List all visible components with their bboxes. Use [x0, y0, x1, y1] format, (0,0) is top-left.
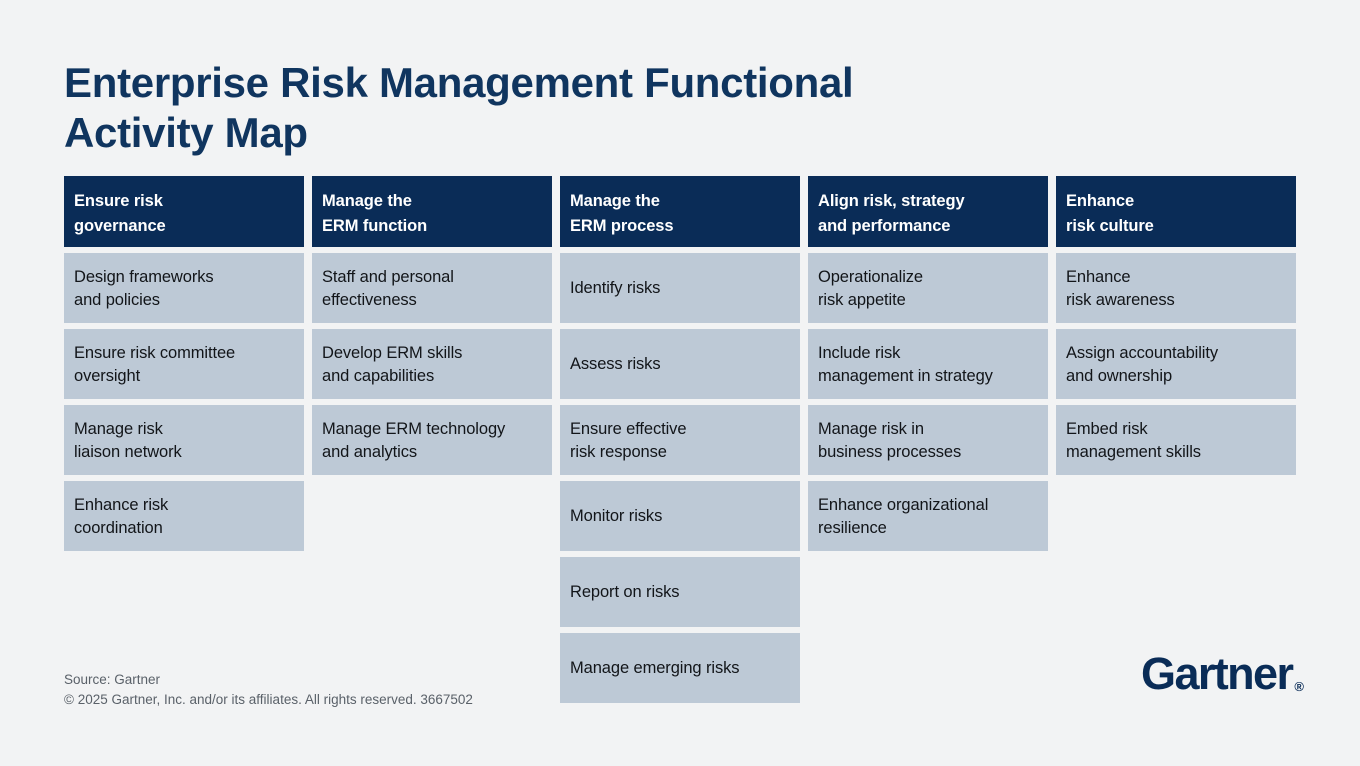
column-header-line-2: ERM process: [570, 214, 788, 239]
column-enhance-risk-culture: Enhance risk culture Enhance risk awaren…: [1056, 176, 1296, 475]
source-label: Source: Gartner: [64, 670, 473, 690]
activity-line-2: risk response: [570, 441, 790, 464]
column-header-ensure-risk-governance: Ensure risk governance: [64, 176, 304, 247]
infographic-canvas: Enterprise Risk Management Functional Ac…: [0, 0, 1360, 766]
activity-line-2: liaison network: [74, 441, 294, 464]
registered-trademark-icon: ®: [1294, 680, 1304, 693]
activity-line-2: oversight: [74, 365, 294, 388]
activity-line-2: and capabilities: [322, 365, 542, 388]
column-header-line-1: Align risk, strategy: [818, 189, 1036, 214]
column-manage-the-erm-process: Manage the ERM process Identify risks As…: [560, 176, 800, 703]
activity-line-2: and analytics: [322, 441, 542, 464]
activity-cell[interactable]: Staff and personal effectiveness: [312, 253, 552, 323]
activity-cell[interactable]: Manage risk in business processes: [808, 405, 1048, 475]
activity-line-1: Assign accountability: [1066, 342, 1286, 365]
column-header-manage-the-erm-process: Manage the ERM process: [560, 176, 800, 247]
page-title-line-2: Activity Map: [64, 108, 1064, 158]
column-manage-the-erm-function: Manage the ERM function Staff and person…: [312, 176, 552, 475]
activity-line-1: Staff and personal: [322, 266, 542, 289]
column-header-line-1: Manage the: [322, 189, 540, 214]
activity-line-2: business processes: [818, 441, 1038, 464]
column-ensure-risk-governance: Ensure risk governance Design frameworks…: [64, 176, 304, 551]
activity-line-2: risk awareness: [1066, 289, 1286, 312]
activity-cell[interactable]: Develop ERM skills and capabilities: [312, 329, 552, 399]
activity-cell[interactable]: Identify risks: [560, 253, 800, 323]
gartner-wordmark: Gartner: [1141, 651, 1292, 696]
page-title: Enterprise Risk Management Functional Ac…: [64, 58, 1064, 158]
activity-line-1: Assess risks: [570, 353, 660, 376]
activity-cell[interactable]: Enhance risk coordination: [64, 481, 304, 551]
activity-line-1: Enhance organizational: [818, 494, 1038, 517]
activity-cell[interactable]: Enhance risk awareness: [1056, 253, 1296, 323]
activity-line-1: Embed risk: [1066, 418, 1286, 441]
activity-line-2: coordination: [74, 517, 294, 540]
activity-line-1: Include risk: [818, 342, 1038, 365]
activity-line-1: Develop ERM skills: [322, 342, 542, 365]
column-header-line-1: Manage the: [570, 189, 788, 214]
activity-line-1: Manage risk in: [818, 418, 1038, 441]
activity-cell[interactable]: Assess risks: [560, 329, 800, 399]
activity-line-2: and policies: [74, 289, 294, 312]
activity-cell[interactable]: Include risk management in strategy: [808, 329, 1048, 399]
column-header-enhance-risk-culture: Enhance risk culture: [1056, 176, 1296, 247]
activity-cell[interactable]: Report on risks: [560, 557, 800, 627]
activity-line-1: Manage emerging risks: [570, 657, 739, 680]
activity-line-1: Report on risks: [570, 581, 679, 604]
activity-cell[interactable]: Manage emerging risks: [560, 633, 800, 703]
column-header-align-risk-strategy-and-performance: Align risk, strategy and performance: [808, 176, 1048, 247]
activity-line-1: Ensure effective: [570, 418, 790, 441]
page-title-line-1: Enterprise Risk Management Functional: [64, 58, 1064, 108]
activity-map-grid: Ensure risk governance Design frameworks…: [64, 176, 1296, 703]
column-header-line-1: Enhance: [1066, 189, 1284, 214]
activity-cell[interactable]: Ensure effective risk response: [560, 405, 800, 475]
activity-line-1: Design frameworks: [74, 266, 294, 289]
activity-line-1: Identify risks: [570, 277, 660, 300]
activity-line-2: and ownership: [1066, 365, 1286, 388]
column-align-risk-strategy-and-performance: Align risk, strategy and performance Ope…: [808, 176, 1048, 551]
activity-cell[interactable]: Monitor risks: [560, 481, 800, 551]
activity-line-2: management in strategy: [818, 365, 1038, 388]
activity-cell[interactable]: Ensure risk committee oversight: [64, 329, 304, 399]
column-header-line-1: Ensure risk: [74, 189, 292, 214]
footer-attribution: Source: Gartner © 2025 Gartner, Inc. and…: [64, 670, 473, 710]
activity-cell[interactable]: Manage ERM technology and analytics: [312, 405, 552, 475]
activity-line-2: risk appetite: [818, 289, 1038, 312]
activity-line-1: Ensure risk committee: [74, 342, 294, 365]
activity-line-1: Enhance: [1066, 266, 1286, 289]
activity-cell[interactable]: Embed risk management skills: [1056, 405, 1296, 475]
activity-line-1: Operationalize: [818, 266, 1038, 289]
activity-line-1: Enhance risk: [74, 494, 294, 517]
activity-cell[interactable]: Operationalize risk appetite: [808, 253, 1048, 323]
copyright-label: © 2025 Gartner, Inc. and/or its affiliat…: [64, 690, 473, 710]
activity-cell[interactable]: Manage risk liaison network: [64, 405, 304, 475]
activity-line-1: Manage ERM technology: [322, 418, 542, 441]
activity-line-2: management skills: [1066, 441, 1286, 464]
activity-cell[interactable]: Assign accountability and ownership: [1056, 329, 1296, 399]
activity-line-1: Manage risk: [74, 418, 294, 441]
column-header-manage-the-erm-function: Manage the ERM function: [312, 176, 552, 247]
activity-line-2: effectiveness: [322, 289, 542, 312]
column-header-line-2: governance: [74, 214, 292, 239]
activity-cell[interactable]: Enhance organizational resilience: [808, 481, 1048, 551]
column-header-line-2: risk culture: [1066, 214, 1284, 239]
activity-line-2: resilience: [818, 517, 1038, 540]
activity-line-1: Monitor risks: [570, 505, 662, 528]
activity-cell[interactable]: Design frameworks and policies: [64, 253, 304, 323]
gartner-logo: Gartner ®: [1141, 652, 1304, 696]
column-header-line-2: and performance: [818, 214, 1036, 239]
column-header-line-2: ERM function: [322, 214, 540, 239]
